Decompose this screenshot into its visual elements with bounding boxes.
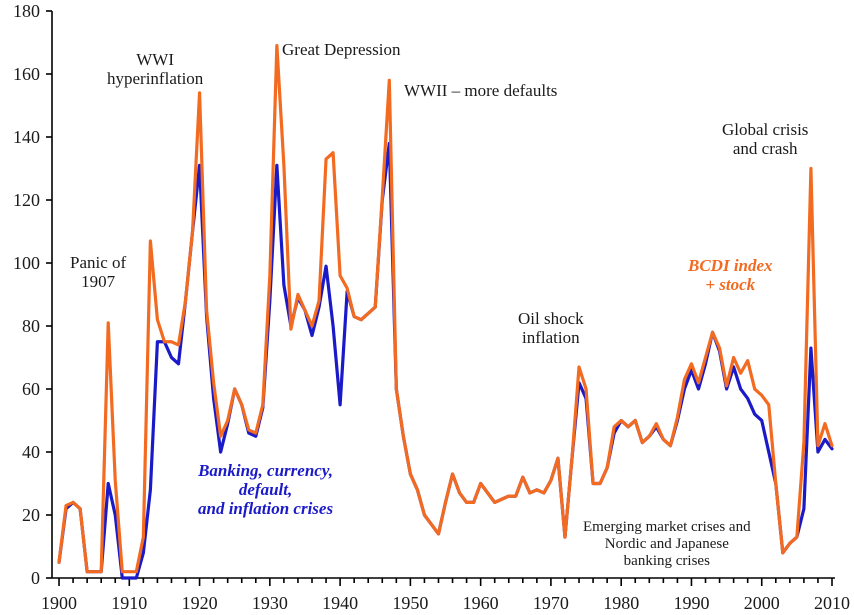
annotation-global-crisis-and-crash: Global crisis and crash bbox=[722, 120, 808, 158]
y-axis-tick-label: 140 bbox=[13, 127, 40, 147]
x-axis-tick-label: 2010 bbox=[814, 593, 850, 613]
y-axis-tick-label: 40 bbox=[22, 442, 40, 462]
x-axis-tick-label: 1980 bbox=[603, 593, 639, 613]
y-axis-tick-label: 180 bbox=[13, 1, 40, 21]
annotation-wwii-more-defaults: WWII – more defaults bbox=[404, 81, 557, 100]
y-axis-tick-label: 120 bbox=[13, 190, 40, 210]
annotation-banking-currency-default-inflation-crises: Banking, currency, default, and inflatio… bbox=[198, 461, 333, 518]
annotation-wwi-hyperinflation: WWI hyperinflation bbox=[107, 50, 203, 88]
annotation-great-depression: Great Depression bbox=[282, 40, 401, 59]
annotation-oil-shock-inflation: Oil shock inflation bbox=[518, 309, 584, 347]
x-axis-tick-label: 1940 bbox=[322, 593, 358, 613]
x-axis-tick-label: 1970 bbox=[533, 593, 569, 613]
annotation-emerging-market-crises: Emerging market crises and Nordic and Ja… bbox=[583, 519, 751, 569]
y-axis-tick-label: 160 bbox=[13, 64, 40, 84]
x-axis-tick-label: 1950 bbox=[392, 593, 428, 613]
chart-container: 020406080100120140160180 190019101920193… bbox=[0, 0, 854, 615]
y-axis-tick-label: 80 bbox=[22, 316, 40, 336]
x-axis-tick-label: 2000 bbox=[744, 593, 780, 613]
x-axis-tick-label: 1930 bbox=[252, 593, 288, 613]
annotation-panic-of-1907: Panic of 1907 bbox=[70, 253, 126, 291]
y-axis-tick-label: 60 bbox=[22, 379, 40, 399]
x-axis-tick-label: 1910 bbox=[111, 593, 147, 613]
x-axis-tick-label: 1960 bbox=[463, 593, 499, 613]
x-axis-tick-label: 1990 bbox=[673, 593, 709, 613]
y-axis-tick-label: 0 bbox=[31, 568, 40, 588]
y-axis-tick-label: 100 bbox=[13, 253, 40, 273]
y-axis-tick-label: 20 bbox=[22, 505, 40, 525]
annotation-bcdi-index-stock: BCDI index + stock bbox=[688, 256, 773, 294]
x-axis-tick-label: 1900 bbox=[41, 593, 77, 613]
x-axis-tick-label: 1920 bbox=[182, 593, 218, 613]
